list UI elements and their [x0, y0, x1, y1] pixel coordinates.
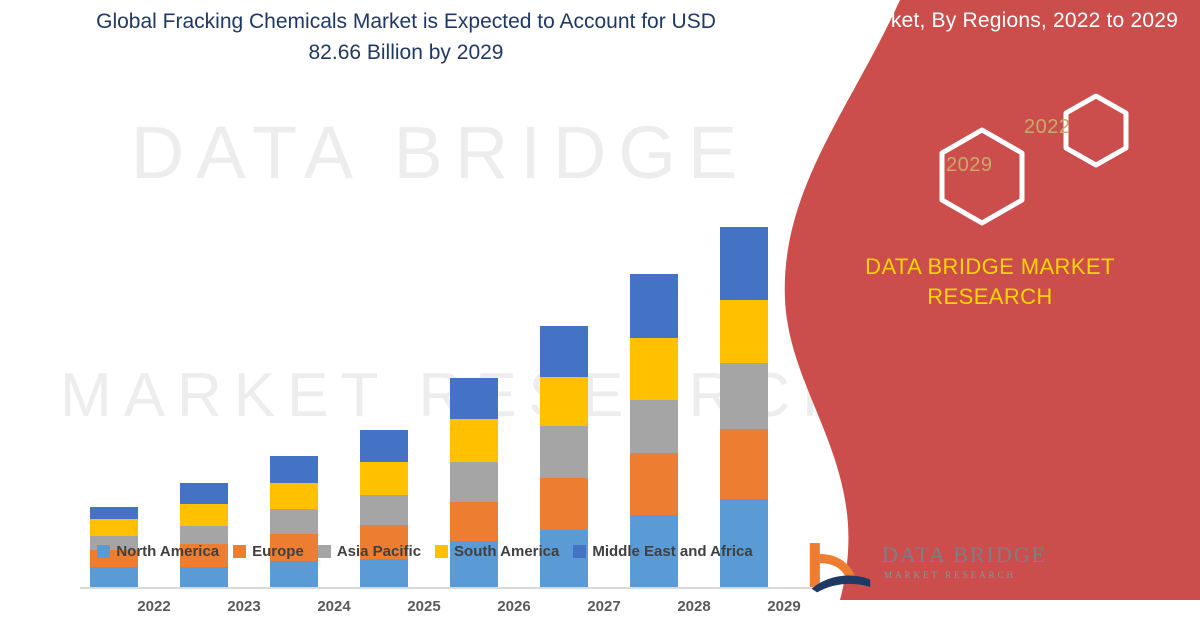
- bar-2024: [270, 100, 318, 587]
- bar-segment: [720, 363, 768, 429]
- legend-item-south-america[interactable]: South America: [435, 543, 559, 560]
- hexagon-label-2022: 2022: [1024, 116, 1071, 139]
- bar-segment: [630, 274, 678, 338]
- legend-item-europe[interactable]: Europe: [233, 543, 304, 560]
- chart-plot-area: 20222023202420252026202720282029: [40, 100, 800, 490]
- infographic-canvas: Global Fracking Chemicals Market is Expe…: [0, 0, 1200, 600]
- bar-segment: [270, 561, 318, 587]
- legend-swatch-icon: [573, 545, 586, 558]
- hexagon-icons: [900, 88, 1160, 238]
- legend-item-asia-pacific[interactable]: Asia Pacific: [318, 543, 421, 560]
- legend-label: Europe: [252, 543, 304, 560]
- bar-segment: [720, 227, 768, 300]
- x-axis-labels: 20222023202420252026202720282029: [80, 598, 840, 624]
- bridge-logo-icon: [808, 536, 872, 594]
- bar-segment: [630, 400, 678, 453]
- legend-item-north-america[interactable]: North America: [97, 543, 219, 560]
- x-axis-label-2028: 2028: [649, 598, 739, 615]
- x-axis-label-2022: 2022: [109, 598, 199, 615]
- hexagon-label-2029: 2029: [946, 154, 993, 177]
- bar-2029: [720, 100, 768, 587]
- x-axis-label-2027: 2027: [559, 598, 649, 615]
- x-axis-label-2023: 2023: [199, 598, 289, 615]
- dbmr-logo-text: DATA BRIDGE: [882, 542, 1047, 568]
- bar-segment: [90, 567, 138, 587]
- bar-segment: [180, 567, 228, 587]
- bar-segment: [540, 377, 588, 426]
- bar-segment: [720, 429, 768, 499]
- bar-segment: [180, 483, 228, 505]
- bar-segment: [270, 509, 318, 534]
- legend-item-middle-east-and-africa[interactable]: Middle East and Africa: [573, 543, 752, 560]
- hexagon-badges: 2029 2022: [900, 88, 1160, 238]
- bar-segment: [360, 495, 408, 525]
- x-axis-line: [80, 587, 820, 589]
- bar-2022: [90, 100, 138, 587]
- x-axis-label-2025: 2025: [379, 598, 469, 615]
- bar-segment: [270, 456, 318, 483]
- bar-segment: [540, 326, 588, 377]
- bar-segment: [540, 478, 588, 530]
- bar-2028: [630, 100, 678, 587]
- legend-label: South America: [454, 543, 559, 560]
- x-axis-label-2026: 2026: [469, 598, 559, 615]
- dbmr-logo-subtext: MARKET RESEARCH: [884, 570, 1016, 580]
- bar-2027: [540, 100, 588, 587]
- legend-swatch-icon: [435, 545, 448, 558]
- chart-legend: North AmericaEuropeAsia PacificSouth Ame…: [40, 538, 810, 564]
- legend-label: North America: [116, 543, 219, 560]
- bar-segment: [180, 504, 228, 526]
- panel-title: Market, By Regions, 2022 to 2029: [848, 6, 1178, 36]
- brand-panel: Market, By Regions, 2022 to 2029 2029 20…: [780, 0, 1200, 600]
- page-title: Global Fracking Chemicals Market is Expe…: [76, 6, 736, 68]
- bar-segment: [720, 300, 768, 363]
- dbmr-logo: DATA BRIDGE MARKET RESEARCH: [808, 534, 1168, 600]
- bar-segment: [540, 426, 588, 478]
- brand-line-1: DATA BRIDGE MARKET: [780, 252, 1200, 282]
- bar-segment: [360, 462, 408, 494]
- x-axis-label-2029: 2029: [739, 598, 829, 615]
- brand-line-2: RESEARCH: [780, 282, 1200, 312]
- legend-swatch-icon: [97, 545, 110, 558]
- brand-name: DATA BRIDGE MARKET RESEARCH: [780, 252, 1200, 312]
- bar-2023: [180, 100, 228, 587]
- bar-segment: [90, 519, 138, 536]
- bar-segment: [450, 419, 498, 463]
- bar-2026: [450, 100, 498, 587]
- bar-segment: [360, 430, 408, 462]
- legend-label: Asia Pacific: [337, 543, 421, 560]
- bar-segment: [450, 462, 498, 501]
- bar-segment: [90, 507, 138, 519]
- bar-segment: [630, 453, 678, 515]
- bar-segment: [450, 502, 498, 541]
- legend-swatch-icon: [318, 545, 331, 558]
- bar-segment: [270, 483, 318, 509]
- bar-segment: [450, 378, 498, 419]
- legend-swatch-icon: [233, 545, 246, 558]
- x-axis-label-2024: 2024: [289, 598, 379, 615]
- bar-2025: [360, 100, 408, 587]
- bar-segment: [630, 338, 678, 400]
- legend-label: Middle East and Africa: [592, 543, 752, 560]
